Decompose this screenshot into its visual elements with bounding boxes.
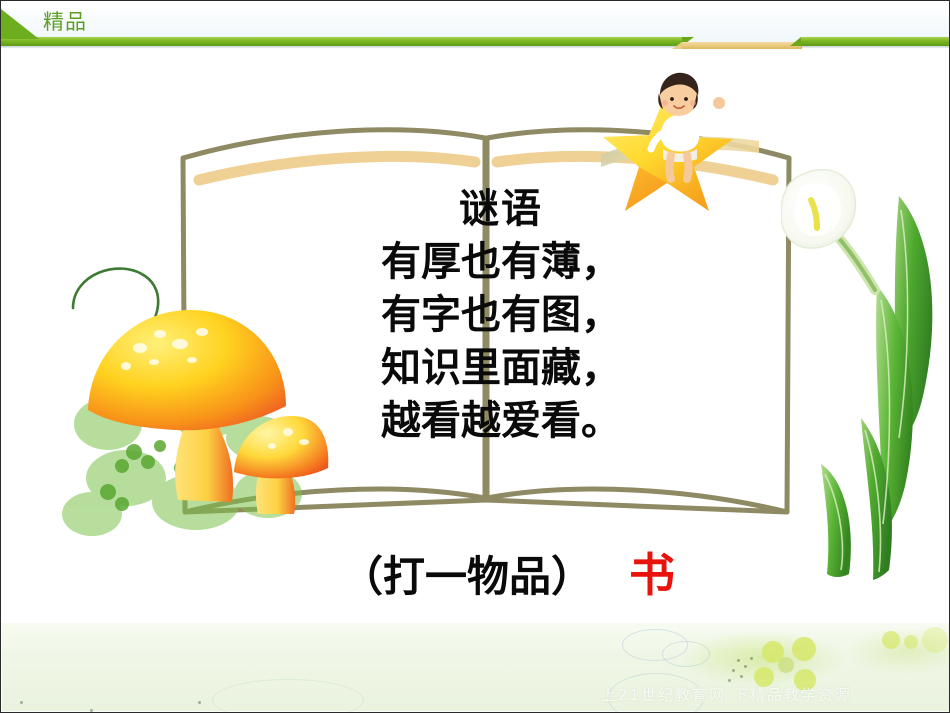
swirl-decor-icon [212, 679, 364, 713]
green-corner-wedge-icon [1, 9, 39, 39]
answer-word: 书 [629, 549, 675, 601]
mushroom-icon [56, 256, 331, 556]
riddle-line-4: 越看越爱看。 [301, 394, 701, 447]
slide-canvas: 精品 [0, 0, 950, 713]
riddle-text-block: 谜语 有厚也有薄， 有字也有图， 知识里面藏， 越看越爱看。 [301, 183, 701, 447]
riddle-line-3: 知识里面藏， [301, 341, 701, 394]
slide-header: 精品 [1, 1, 950, 48]
header-gold-bar [682, 42, 802, 49]
header-green-bar-right [801, 37, 950, 46]
answer-row: （打一物品） 书 [341, 549, 761, 603]
header-title: 精品 [43, 8, 87, 36]
calla-lily-icon [781, 166, 950, 581]
swirl-decor-icon [662, 641, 710, 667]
riddle-line-2: 有字也有图， [301, 288, 701, 341]
riddle-line-1: 有厚也有薄， [301, 235, 701, 288]
answer-hint: （打一物品） [341, 551, 593, 603]
footer-watermark: 上21世纪教育网 下精品教学资源 [601, 684, 931, 705]
header-green-bar-left [1, 37, 682, 46]
riddle-title: 谜语 [301, 183, 701, 235]
